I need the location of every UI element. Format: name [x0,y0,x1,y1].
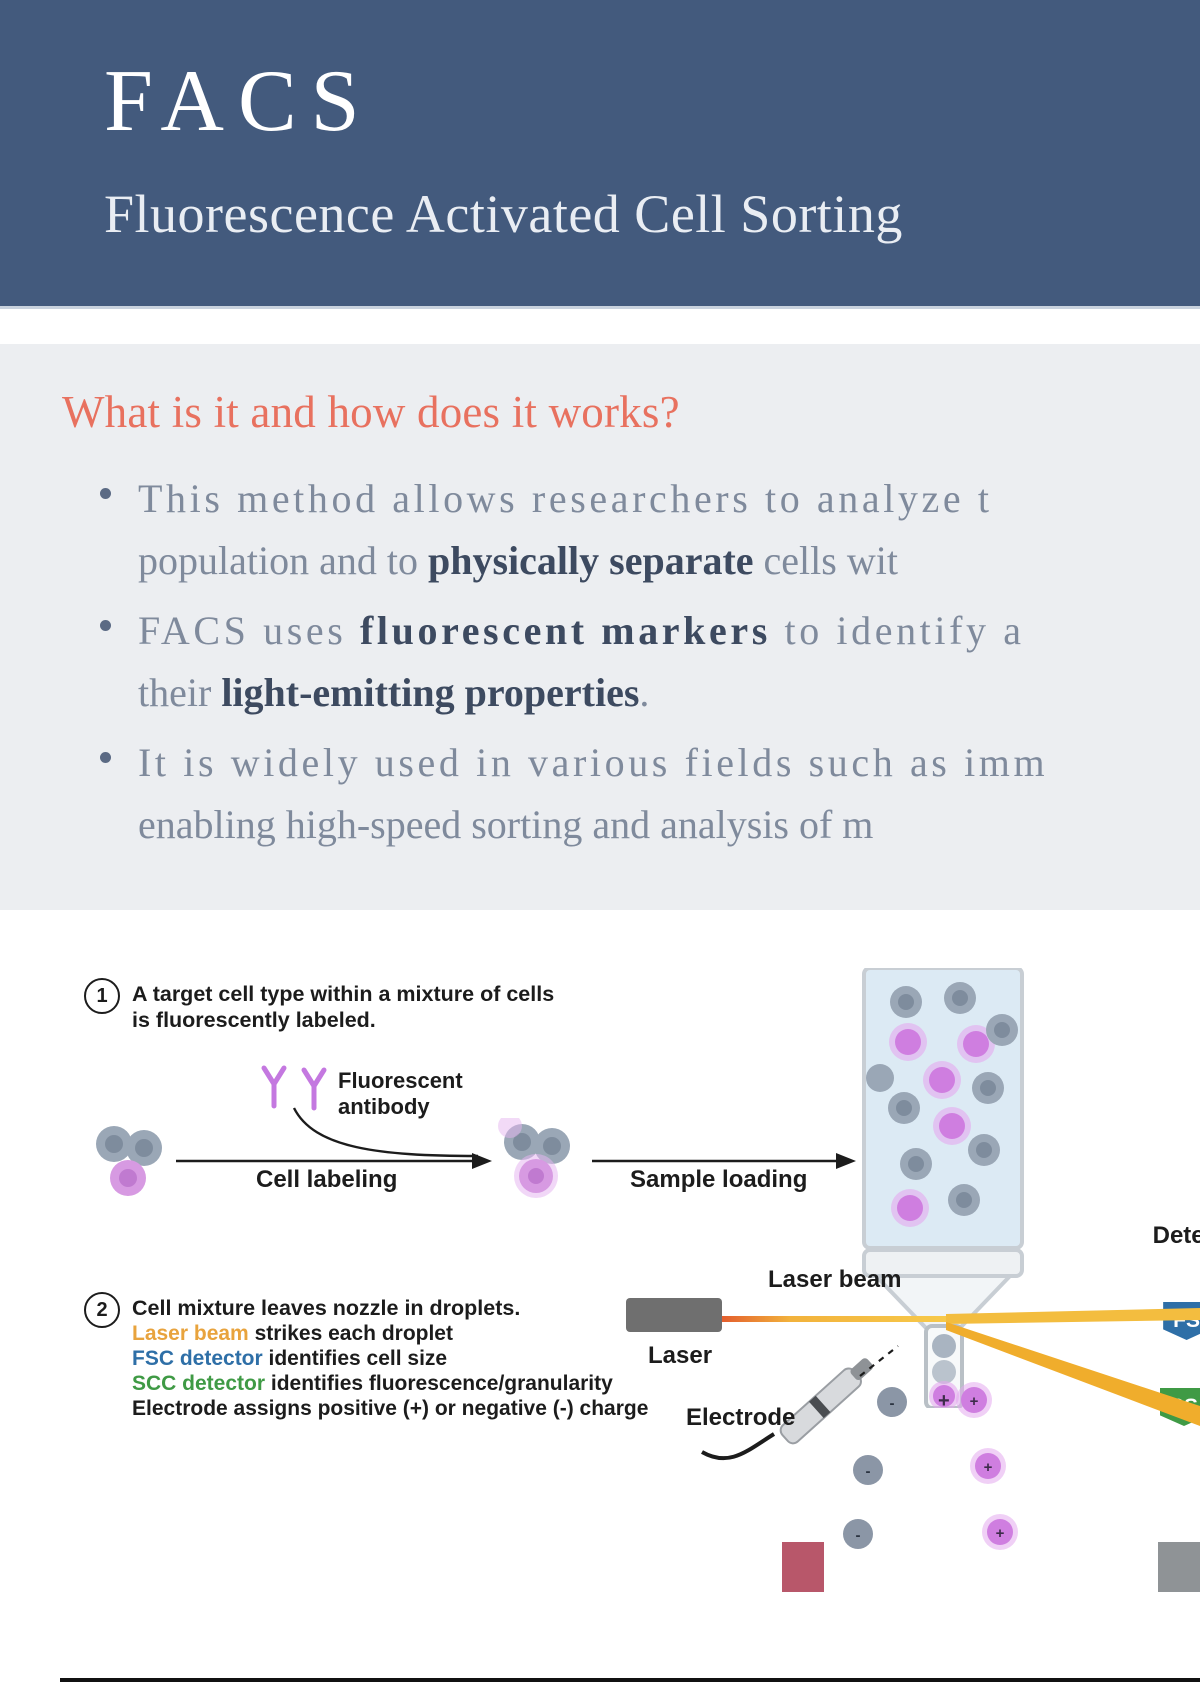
scc-detector-keyword: SCC detector [132,1372,265,1395]
page-subtitle: Fluorescence Activated Cell Sorting [104,186,903,243]
section-heading: What is it and how does it works? [62,386,680,438]
bullet-text-plain: FACS uses [138,608,360,653]
bullet-text-plain: their [138,670,221,715]
laser-beam-rest: strikes each droplet [249,1322,453,1345]
bullet-line-2: their light-emitting properties. [138,662,1200,724]
bullet-text-plain: population and to [138,538,428,583]
bullet-line-1: FACS uses fluorescent markers to identif… [138,600,1200,662]
bullet-dot-icon [100,752,111,763]
bullet-text-bold: fluorescent markers [360,608,771,653]
step-2-line-electrode: Electrode assigns positive (+) or negati… [132,1397,648,1421]
fluorescent-antibody-label-1: Fluorescent [338,1068,463,1094]
antibody-binding-curve-icon [288,1106,488,1162]
facs-process-diagram: 1 A target cell type within a mixture of… [0,910,1200,1700]
diagram-bottom-rule [60,1678,1200,1682]
scc-detector-rest: identifies fluorescence/granularity [265,1372,613,1395]
content-panel: What is it and how does it works? This m… [0,344,1200,910]
step-2-title: Cell mixture leaves nozzle in droplets. [132,1296,520,1322]
step-2-number: 2 [84,1292,120,1328]
svg-text:-: - [890,1395,895,1412]
bullet-dot-icon [100,488,111,499]
header-divider [0,306,1200,309]
svg-text:-: - [866,1463,871,1480]
svg-text:-: - [856,1527,861,1544]
step-2-line-laser: Laser beam strikes each droplet [132,1322,453,1346]
step-2-line-scc: SCC detector identifies fluorescence/gra… [132,1372,613,1396]
step-1-text-line-1: A target cell type within a mixture of c… [132,982,554,1008]
fsc-detector-rest: identifies cell size [263,1347,447,1370]
bullet-text-tail: . [639,670,649,715]
svg-text:+: + [970,1393,979,1410]
sample-loading-label: Sample loading [630,1166,807,1194]
bullet-line-1: This method allows researchers to analyz… [138,468,1200,530]
detectors-label: Detec [1153,1222,1200,1250]
bullet-text-tail: cells wit [754,538,898,583]
bullet-list: This method allows researchers to analyz… [92,468,1200,864]
cell-cluster-unlabeled-icon [88,1122,178,1202]
bullet-text-tail: to identify a [771,608,1025,653]
list-item: It is widely used in various fields such… [92,732,1200,856]
laser-beam-keyword: Laser beam [132,1322,249,1345]
bullet-text-bold: physically separate [428,538,754,583]
svg-text:+: + [996,1525,1005,1542]
collection-tube-pink [782,1542,824,1592]
cell-cluster-labeled-icon [494,1118,586,1206]
electrode-rest: assigns positive (+) or negative (-) cha… [228,1397,649,1420]
bullet-line-2: population and to physically separate ce… [138,530,1200,592]
cell-labeling-label: Cell labeling [256,1166,397,1194]
step-1-number: 1 [84,978,120,1014]
laser-beam-label: Laser beam [768,1266,901,1294]
step-1-text-line-2: is fluorescently labeled. [132,1008,376,1034]
charged-droplets-icon: - + - + - + [840,1382,1100,1582]
electrode-keyword: Electrode [132,1397,228,1420]
slide-page: FACS Fluorescence Activated Cell Sorting… [0,0,1200,1700]
fsc-detector-keyword: FSC detector [132,1347,263,1370]
bullet-text-bold: light-emitting properties [221,670,639,715]
electrode-label: Electrode [686,1404,795,1432]
page-title: FACS [104,58,374,146]
laser-device-icon [626,1298,722,1332]
collection-tube-gray [1158,1542,1200,1592]
svg-text:+: + [984,1459,993,1476]
bullet-line-2: enabling high-speed sorting and analysis… [138,794,1200,856]
list-item: FACS uses fluorescent markers to identif… [92,600,1200,724]
step-2-line-fsc: FSC detector identifies cell size [132,1347,447,1371]
slide-header: FACS Fluorescence Activated Cell Sorting [0,0,1200,306]
bullet-line-1: It is widely used in various fields such… [138,732,1200,794]
bullet-dot-icon [100,620,111,631]
list-item: This method allows researchers to analyz… [92,468,1200,592]
